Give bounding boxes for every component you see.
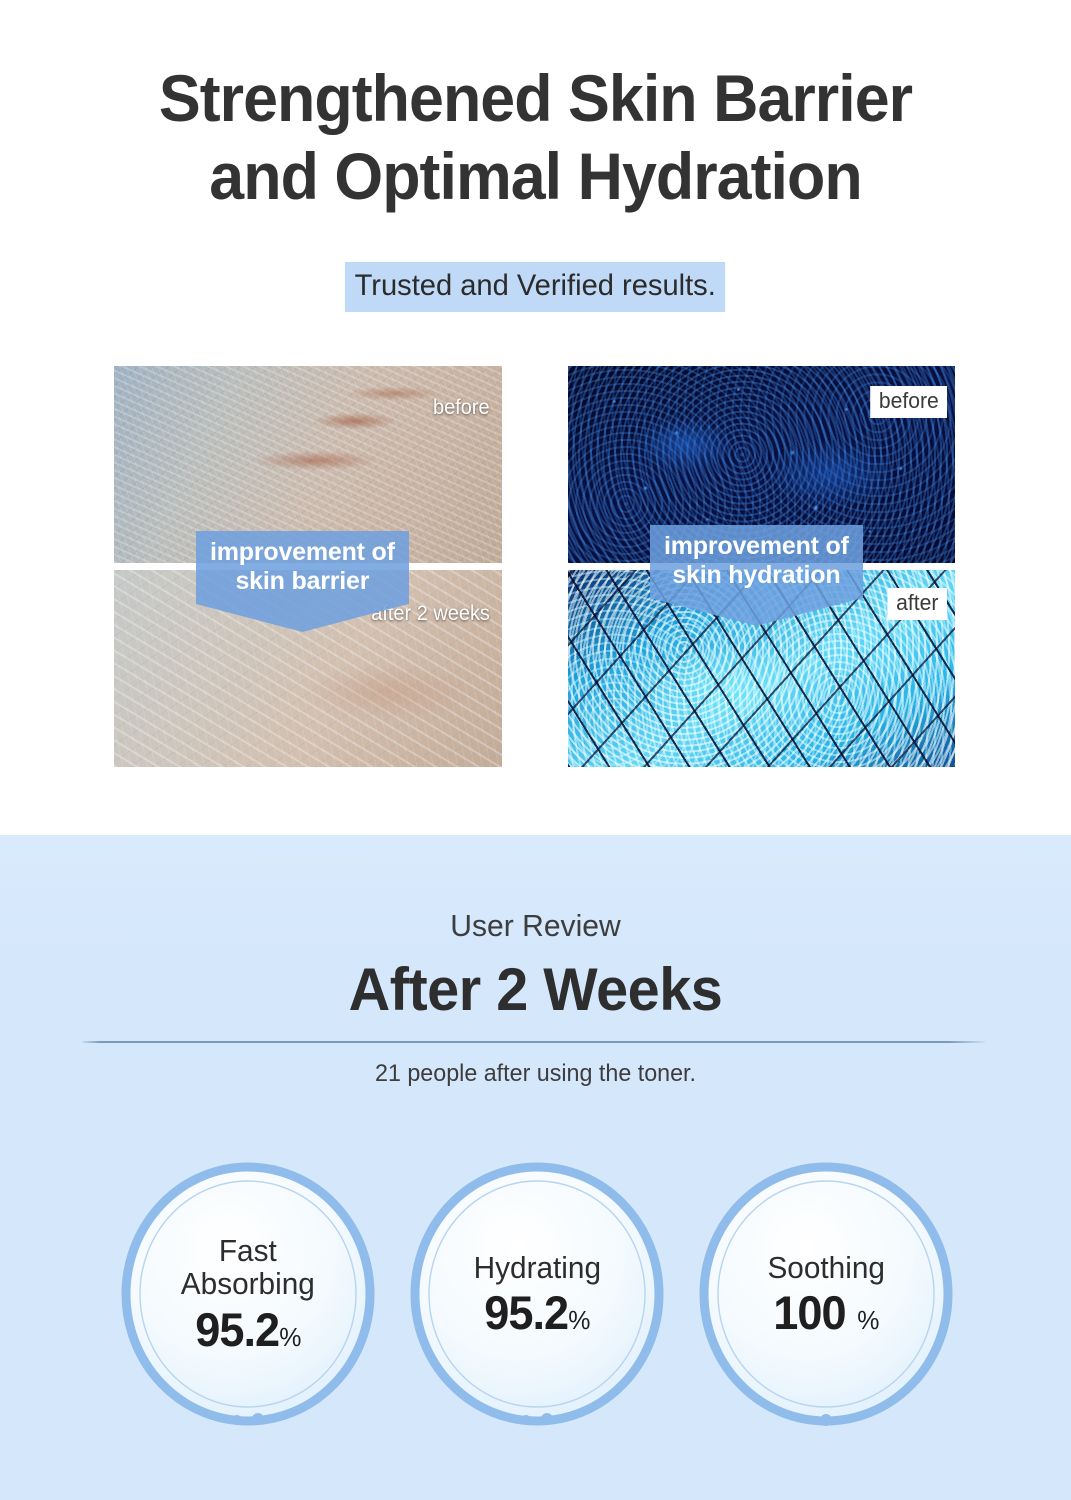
- page-title: Strengthened Skin Barrier and Optimal Hy…: [27, 60, 1044, 216]
- subheadline-container: Trusted and Verified results.: [0, 262, 1071, 312]
- stat-label: Hydrating: [473, 1251, 600, 1284]
- stat-content: Hydrating 95.2%: [408, 1160, 666, 1428]
- stat-label-line-2: Absorbing: [181, 1266, 315, 1301]
- after-label-skin-hydration: after: [887, 588, 947, 620]
- review-sample-note: 21 people after using the toner.: [16, 1060, 1055, 1088]
- stat-circle-fast-absorbing: Fast Absorbing 95.2%: [119, 1160, 377, 1428]
- callout-line-2: skin barrier: [235, 567, 369, 595]
- stat-label-line-1: Hydrating: [473, 1250, 600, 1285]
- callout-banner-skin-hydration: improvement of skin hydration: [650, 525, 863, 626]
- stat-number: 100: [773, 1286, 845, 1339]
- stat-circle-soothing: Soothing 100 %: [697, 1160, 955, 1428]
- callout-tail-icon: [650, 598, 863, 626]
- stat-value: 100 %: [773, 1288, 879, 1337]
- stat-label: Fast Absorbing: [181, 1234, 315, 1301]
- stat-label-line-1: Soothing: [767, 1250, 884, 1285]
- review-eyebrow: User Review: [16, 908, 1055, 944]
- before-label-skin-barrier: before: [433, 396, 490, 420]
- stat-circles-group: Fast Absorbing 95.2% Hydr: [0, 1160, 1071, 1440]
- callout-line-2: skin hydration: [672, 561, 840, 589]
- stat-label: Soothing: [767, 1251, 884, 1284]
- stat-unit: %: [279, 1322, 301, 1352]
- stat-circle-hydrating: Hydrating 95.2%: [408, 1160, 666, 1428]
- review-divider: [82, 1041, 985, 1043]
- stat-unit: %: [568, 1305, 590, 1335]
- callout-line-1: improvement of: [210, 538, 395, 566]
- stat-content: Soothing 100 %: [697, 1160, 955, 1428]
- review-title: After 2 Weeks: [21, 955, 1049, 1024]
- stat-number: 95.2: [195, 1303, 279, 1356]
- callout-banner-skin-barrier-body: improvement of skin barrier: [196, 531, 409, 604]
- headline-line-2: and Optimal Hydration: [27, 138, 1044, 216]
- callout-banner-skin-hydration-body: improvement of skin hydration: [650, 525, 863, 598]
- callout-banner-skin-barrier: improvement of skin barrier: [196, 531, 409, 632]
- stat-value: 95.2%: [195, 1305, 301, 1354]
- stat-number: 95.2: [484, 1286, 568, 1339]
- stat-unit: %: [857, 1305, 879, 1335]
- subheadline-highlight: Trusted and Verified results.: [345, 262, 726, 312]
- stat-content: Fast Absorbing 95.2%: [119, 1160, 377, 1428]
- stat-value: 95.2%: [484, 1288, 590, 1337]
- stat-label-line-1: Fast: [219, 1233, 277, 1268]
- hero-section: Strengthened Skin Barrier and Optimal Hy…: [0, 0, 1071, 835]
- callout-tail-icon: [196, 604, 409, 632]
- before-label-skin-hydration: before: [870, 386, 947, 418]
- callout-line-1: improvement of: [664, 532, 849, 560]
- headline-line-1: Strengthened Skin Barrier: [27, 60, 1044, 138]
